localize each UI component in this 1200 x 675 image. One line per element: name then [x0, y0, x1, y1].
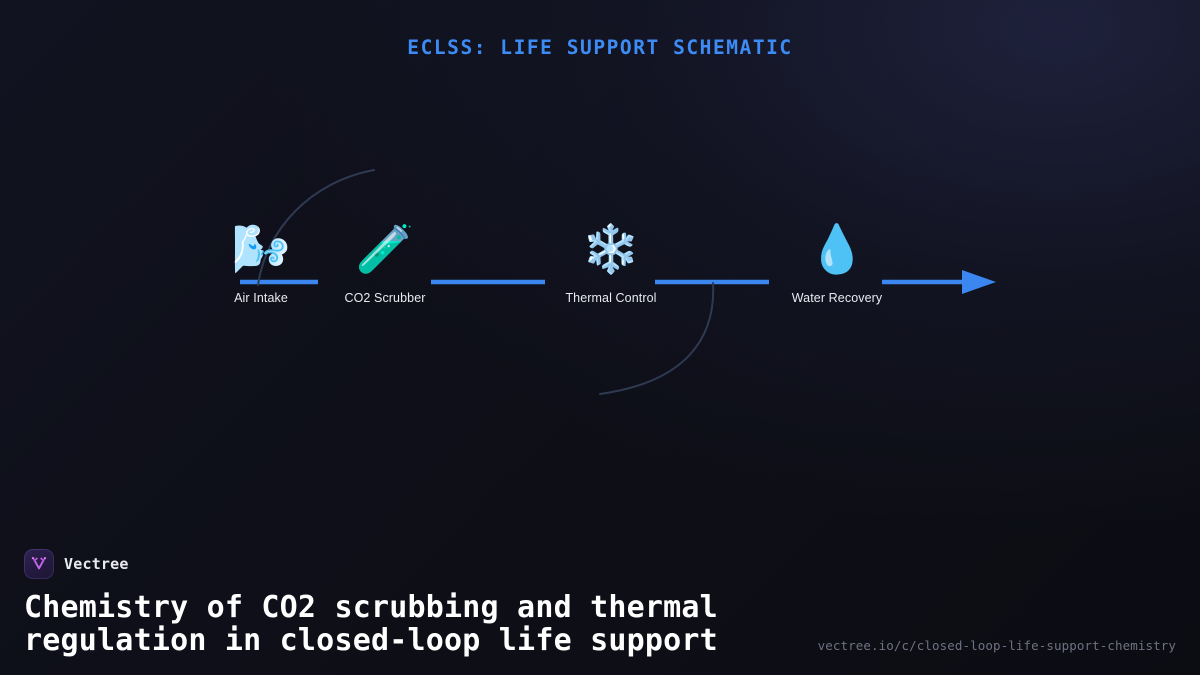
- headline: Chemistry of CO2 scrubbing and thermal r…: [24, 592, 784, 657]
- node-water-recovery[interactable]: 💧 Water Recovery: [762, 222, 912, 305]
- node-thermal-control[interactable]: ❄️ Thermal Control: [536, 222, 686, 305]
- vectree-logo-icon: [24, 549, 54, 579]
- node-co2-scrubber[interactable]: 🧪 CO2 Scrubber: [310, 222, 460, 305]
- node-label-co2-scrubber: CO2 Scrubber: [310, 291, 460, 305]
- source-url: vectree.io/c/closed-loop-life-support-ch…: [818, 638, 1176, 653]
- output-arrowhead-icon: [962, 270, 996, 294]
- node-label-thermal-control: Thermal Control: [536, 291, 686, 305]
- test-tube-icon: 🧪: [310, 222, 460, 280]
- vectree-mark-icon: [30, 555, 48, 573]
- node-label-water-recovery: Water Recovery: [762, 291, 912, 305]
- footer: Vectree Chemistry of CO2 scrubbing and t…: [0, 549, 1200, 675]
- snowflake-icon: ❄️: [536, 222, 686, 280]
- screenshot-canvas: ECLSS: LIFE SUPPORT SCHEMATIC 🌬️ Air Int…: [0, 0, 1200, 675]
- brand-name: Vectree: [64, 555, 129, 573]
- brand-row: Vectree: [24, 549, 1176, 579]
- schematic-diagram: 🌬️ Air Intake 🧪 CO2 Scrubber ❄️ Thermal …: [0, 0, 1200, 460]
- droplet-icon: 💧: [762, 222, 912, 280]
